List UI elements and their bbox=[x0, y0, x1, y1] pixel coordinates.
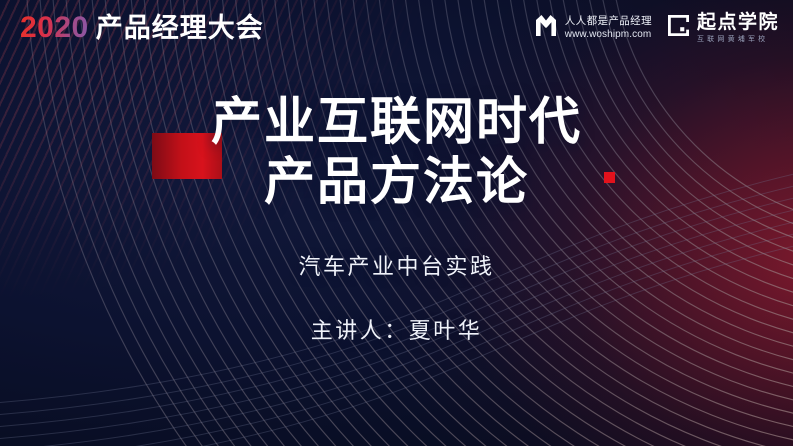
woshipm-url: www.woshipm.com bbox=[565, 29, 652, 40]
background-maroon-glow bbox=[0, 0, 793, 446]
woshipm-cn-name: 人人都是产品经理 bbox=[565, 16, 652, 28]
brand-logos: 人人都是产品经理 www.woshipm.com 起点学院 互联网黄埔军校 bbox=[533, 13, 779, 43]
slide-header: 2020 产品经理大会 人人都是产品经理 www.woshipm.com bbox=[0, 0, 793, 56]
background-wave-lines bbox=[0, 0, 793, 446]
presentation-slide: 2020 产品经理大会 人人都是产品经理 www.woshipm.com bbox=[0, 0, 793, 446]
woshipm-text-block: 人人都是产品经理 www.woshipm.com bbox=[565, 16, 652, 40]
slide-title: 产业互联网时代 产品方法论 bbox=[211, 92, 582, 211]
event-name: 产品经理大会 bbox=[96, 15, 264, 42]
qidian-subtitle: 互联网黄埔军校 bbox=[697, 36, 779, 43]
red-square-accent bbox=[604, 172, 615, 183]
qidian-text-block: 起点学院 互联网黄埔军校 bbox=[697, 13, 779, 43]
background-diagonal-stripes bbox=[0, 0, 793, 446]
woshipm-m-logo-icon bbox=[533, 14, 559, 43]
slide-content: 产业互联网时代 产品方法论 汽车产业中台实践 主讲人：夏叶华 bbox=[0, 0, 793, 446]
slide-speaker: 主讲人：夏叶华 bbox=[311, 313, 483, 345]
red-gradient-rectangle-accent bbox=[152, 133, 222, 179]
qidian-bracket-logo-icon bbox=[666, 13, 691, 43]
title-line-2: 产品方法论 bbox=[211, 152, 582, 212]
background-base bbox=[0, 0, 793, 446]
title-line-1: 产业互联网时代 bbox=[211, 92, 582, 152]
slide-subtitle: 汽车产业中台实践 bbox=[298, 249, 494, 281]
brand-qidian: 起点学院 互联网黄埔军校 bbox=[666, 13, 779, 43]
brand-woshipm: 人人都是产品经理 www.woshipm.com bbox=[533, 14, 652, 43]
qidian-name: 起点学院 bbox=[697, 13, 779, 32]
background-arc-lines bbox=[0, 0, 793, 446]
event-logo: 2020 产品经理大会 bbox=[20, 13, 264, 43]
event-year: 2020 bbox=[20, 13, 89, 43]
